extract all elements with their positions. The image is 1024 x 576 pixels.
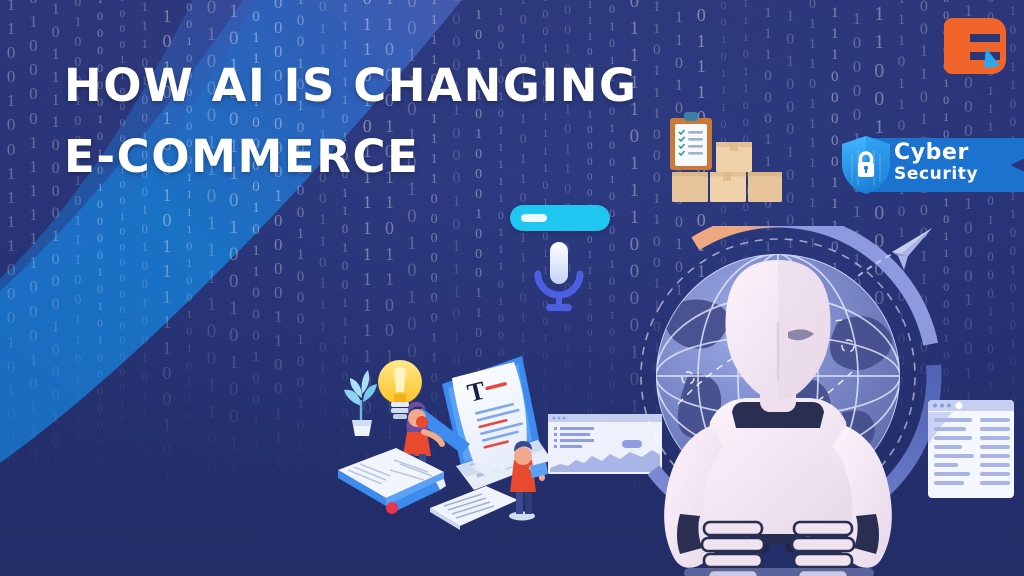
article-window: [926, 398, 1018, 502]
cyber-badge-text: Cyber Security: [894, 142, 1018, 184]
status-badge: Cyber Security: [838, 134, 1024, 196]
brand-logo[interactable]: [940, 14, 1008, 78]
open-book: [338, 448, 444, 506]
headline-line-2: E-Commerce: [64, 121, 724, 192]
tablet-keyboard: [430, 486, 518, 530]
paper-plane-icon: [856, 222, 940, 284]
plant-icon: [344, 370, 377, 436]
banner-canvas: 1 1 1 0 0 1 0 0 1 1 1 1 0 0 0 1 0 1 0 0 …: [0, 0, 1024, 576]
inventory-boxes: [660, 112, 786, 208]
microphone-icon[interactable]: [528, 240, 590, 318]
page-title: How AI Is Changing E-Commerce: [64, 50, 724, 192]
cyber-label-line-1: Cyber: [894, 142, 1018, 164]
headline-line-1: How AI Is Changing: [64, 59, 638, 112]
cyber-label-line-2: Security: [894, 166, 1018, 183]
shield-lock-icon: [838, 134, 894, 196]
content-writing-workspace: T: [324, 348, 550, 534]
